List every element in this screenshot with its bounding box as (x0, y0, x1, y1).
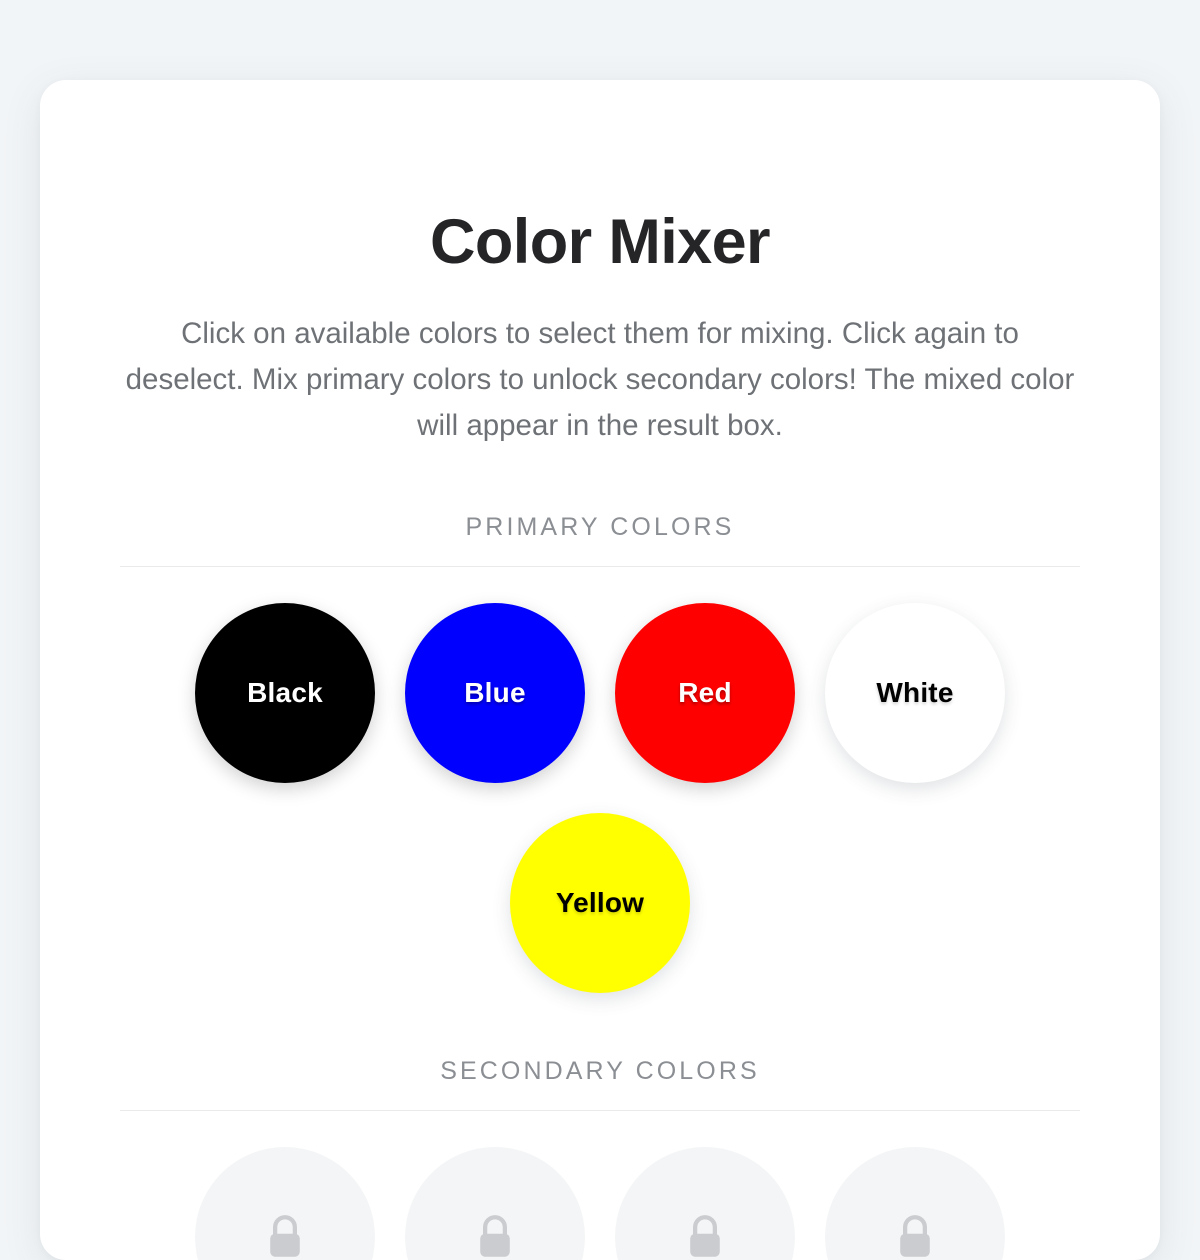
lock-icon (685, 1214, 725, 1260)
secondary-colors-section: SECONDARY COLORS (120, 1057, 1080, 1260)
lock-icon (895, 1214, 935, 1260)
secondary-divider (120, 1110, 1080, 1111)
locked-secondary-swatch (615, 1147, 795, 1260)
primary-swatch-row: BlackBlueRedWhiteYellow (120, 603, 1080, 993)
primary-divider (120, 566, 1080, 567)
locked-secondary-swatch (195, 1147, 375, 1260)
lock-icon (265, 1214, 305, 1260)
color-swatch-white[interactable]: White (825, 603, 1005, 783)
color-swatch-label: White (876, 677, 953, 709)
secondary-swatch-row (120, 1147, 1080, 1260)
color-swatch-blue[interactable]: Blue (405, 603, 585, 783)
locked-secondary-swatch (405, 1147, 585, 1260)
lock-icon (475, 1214, 515, 1260)
page-title: Color Mixer (120, 208, 1080, 277)
color-swatch-red[interactable]: Red (615, 603, 795, 783)
color-swatch-label: Yellow (556, 887, 644, 919)
page-description: Click on available colors to select them… (120, 311, 1080, 449)
locked-secondary-swatch (825, 1147, 1005, 1260)
color-swatch-black[interactable]: Black (195, 603, 375, 783)
color-swatch-label: Black (247, 677, 323, 709)
secondary-colors-heading: SECONDARY COLORS (120, 1057, 1080, 1086)
primary-colors-section: PRIMARY COLORS BlackBlueRedWhiteYellow (120, 513, 1080, 993)
color-swatch-yellow[interactable]: Yellow (510, 813, 690, 993)
color-swatch-label: Blue (464, 677, 525, 709)
color-mixer-card: Color Mixer Click on available colors to… (40, 80, 1160, 1260)
color-swatch-label: Red (678, 677, 732, 709)
primary-colors-heading: PRIMARY COLORS (120, 513, 1080, 542)
